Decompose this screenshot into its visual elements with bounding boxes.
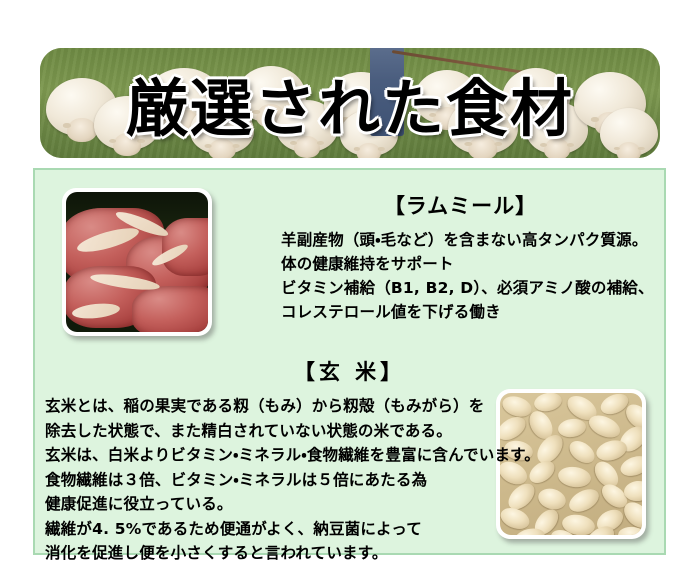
lamb-body-line: ビタミン補給（B1, B2, D）、必須アミノ酸の補給、 xyxy=(281,276,654,300)
lamb-section-body: 羊副産物（頭・毛など）を含まない高タンパク質源。 体の健康維持をサポート ビタミ… xyxy=(281,228,654,324)
lamb-body-line: コレステロール値を下げる働き xyxy=(281,300,654,324)
rice-body-line: 玄米は、白米よりビタミン・ミネラル・食物繊維を豊富に含んでいます。 xyxy=(45,443,658,468)
header-banner: 厳選された食材 xyxy=(40,48,660,158)
rice-body-line: 消化を促進し便を小さくすると言われています。 xyxy=(45,541,658,566)
rice-body-line: 健康促進に役立っている。 xyxy=(45,492,658,517)
rice-section-heading: 【玄 米】 xyxy=(35,356,664,386)
rice-body-line: 食物繊維は３倍、ビタミン・ミネラルは５倍にあたる為 xyxy=(45,468,658,493)
lamb-meat-photo xyxy=(62,188,212,336)
rice-body-line: 繊維が4. 5%であるため便通がよく、納豆菌によって xyxy=(45,517,658,542)
page-title: 厳選された食材 xyxy=(40,58,660,148)
page-root: 厳選された食材 【ラムミール】 xyxy=(0,0,700,561)
ingredients-panel: 【ラムミール】 羊副産物（頭・毛など）を含まない高タンパク質源。 体の健康維持を… xyxy=(33,168,666,555)
lamb-body-line: 羊副産物（頭・毛など）を含まない高タンパク質源。 xyxy=(281,228,654,252)
lamb-body-line: 体の健康維持をサポート xyxy=(281,252,654,276)
lamb-section-heading: 【ラムミール】 xyxy=(265,190,656,220)
lamb-meat-image xyxy=(66,192,208,332)
rice-body-line: 玄米とは、稲の果実である籾（もみ）から籾殻（もみがら）を xyxy=(45,394,658,419)
rice-section-body: 玄米とは、稲の果実である籾（もみ）から籾殻（もみがら）を 除去した状態で、また精… xyxy=(45,394,658,566)
rice-body-line: 除去した状態で、また精白されていない状態の米である。 xyxy=(45,419,658,444)
